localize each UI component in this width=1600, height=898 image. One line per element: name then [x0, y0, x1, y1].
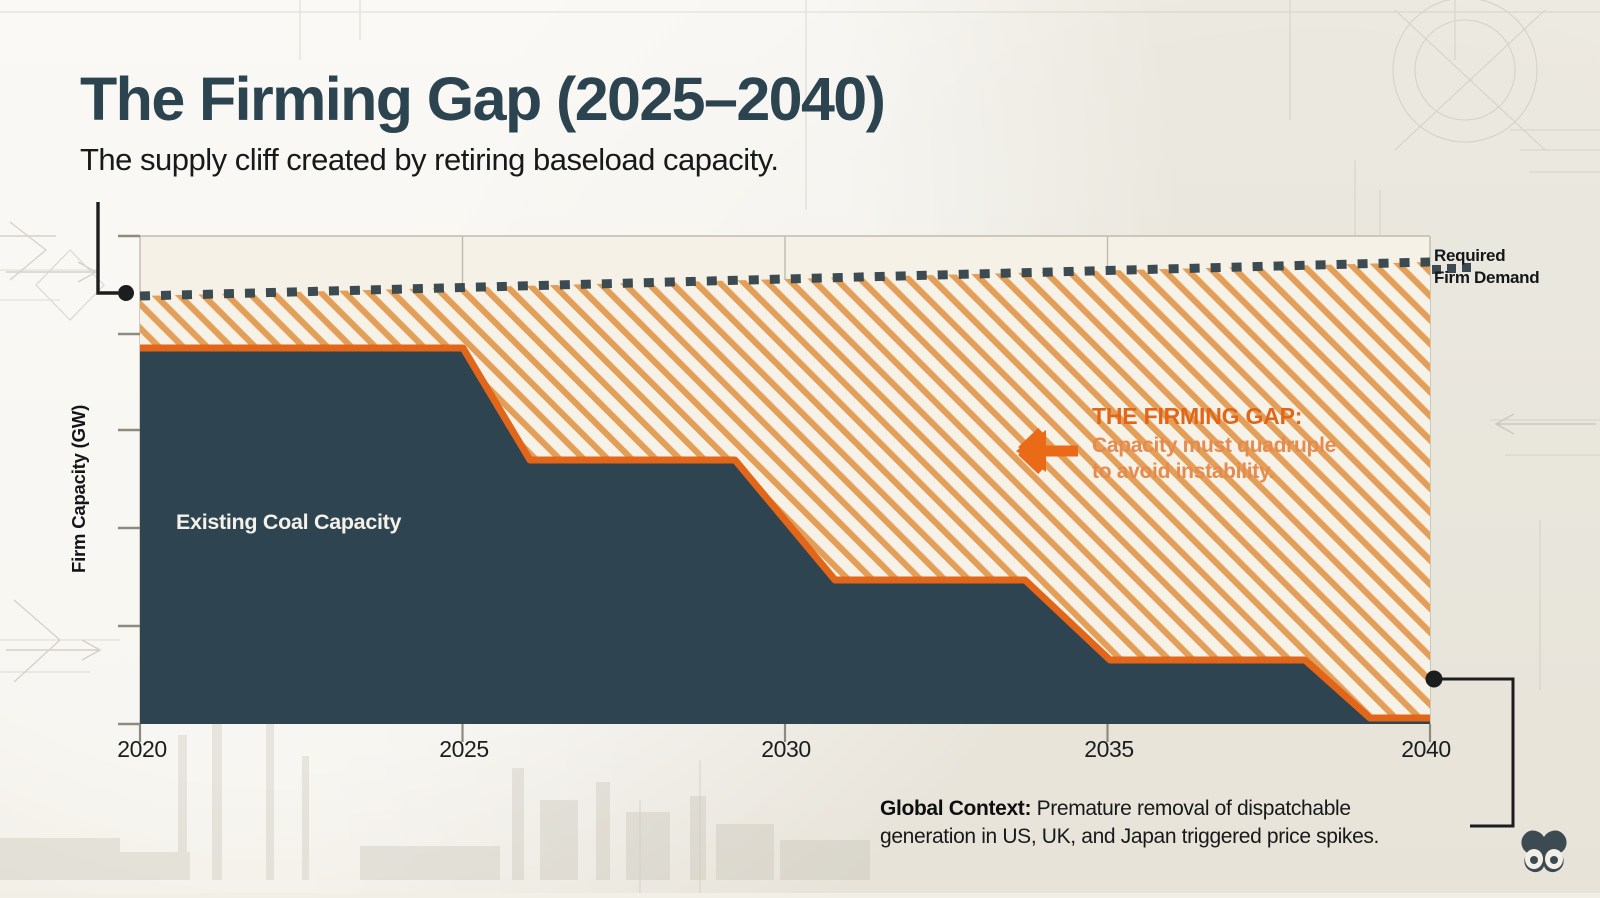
x-tick-2035: 2035: [1084, 736, 1134, 763]
demand-label-line1: Required: [1434, 245, 1539, 267]
footnote-line2: generation in US, UK, and Japan triggere…: [880, 823, 1480, 851]
y-axis-ticks: [118, 236, 140, 724]
x-tick-2040: 2040: [1401, 736, 1451, 763]
leader-dot-footnote: [1426, 671, 1443, 688]
callout-body: Capacity must quadruple to avoid instabi…: [1092, 433, 1392, 484]
demand-label-line2: Firm Demand: [1434, 267, 1539, 289]
callout-body-line1: Capacity must quadruple: [1092, 433, 1392, 459]
footnote-line1: Premature removal of dispatchable: [1031, 797, 1351, 820]
infographic-canvas: The Firming Gap (2025–2040) The supply c…: [0, 0, 1600, 893]
firming-gap-callout: THE FIRMING GAP: Capacity must quadruple…: [1092, 404, 1392, 485]
chart-area: Firm Capacity (GW) 2020 2025 2030 2035 2…: [0, 0, 1600, 893]
cloud-logo-icon: [1513, 829, 1575, 881]
x-tick-2030: 2030: [761, 736, 811, 763]
y-axis-title: Firm Capacity (GW): [68, 374, 90, 604]
leader-dot-demand: [118, 285, 134, 301]
callout-title: THE FIRMING GAP:: [1092, 404, 1392, 429]
leader-line-demand: [98, 202, 118, 293]
coal-series-label: Existing Coal Capacity: [176, 510, 401, 535]
global-context-note: Global Context: Premature removal of dis…: [880, 795, 1480, 850]
demand-series-label: Required Firm Demand: [1434, 245, 1539, 289]
callout-body-line2: to avoid instability.: [1092, 459, 1392, 485]
footnote-lead: Global Context:: [880, 797, 1031, 820]
x-tick-2025: 2025: [439, 736, 489, 763]
x-tick-2020: 2020: [117, 736, 167, 763]
